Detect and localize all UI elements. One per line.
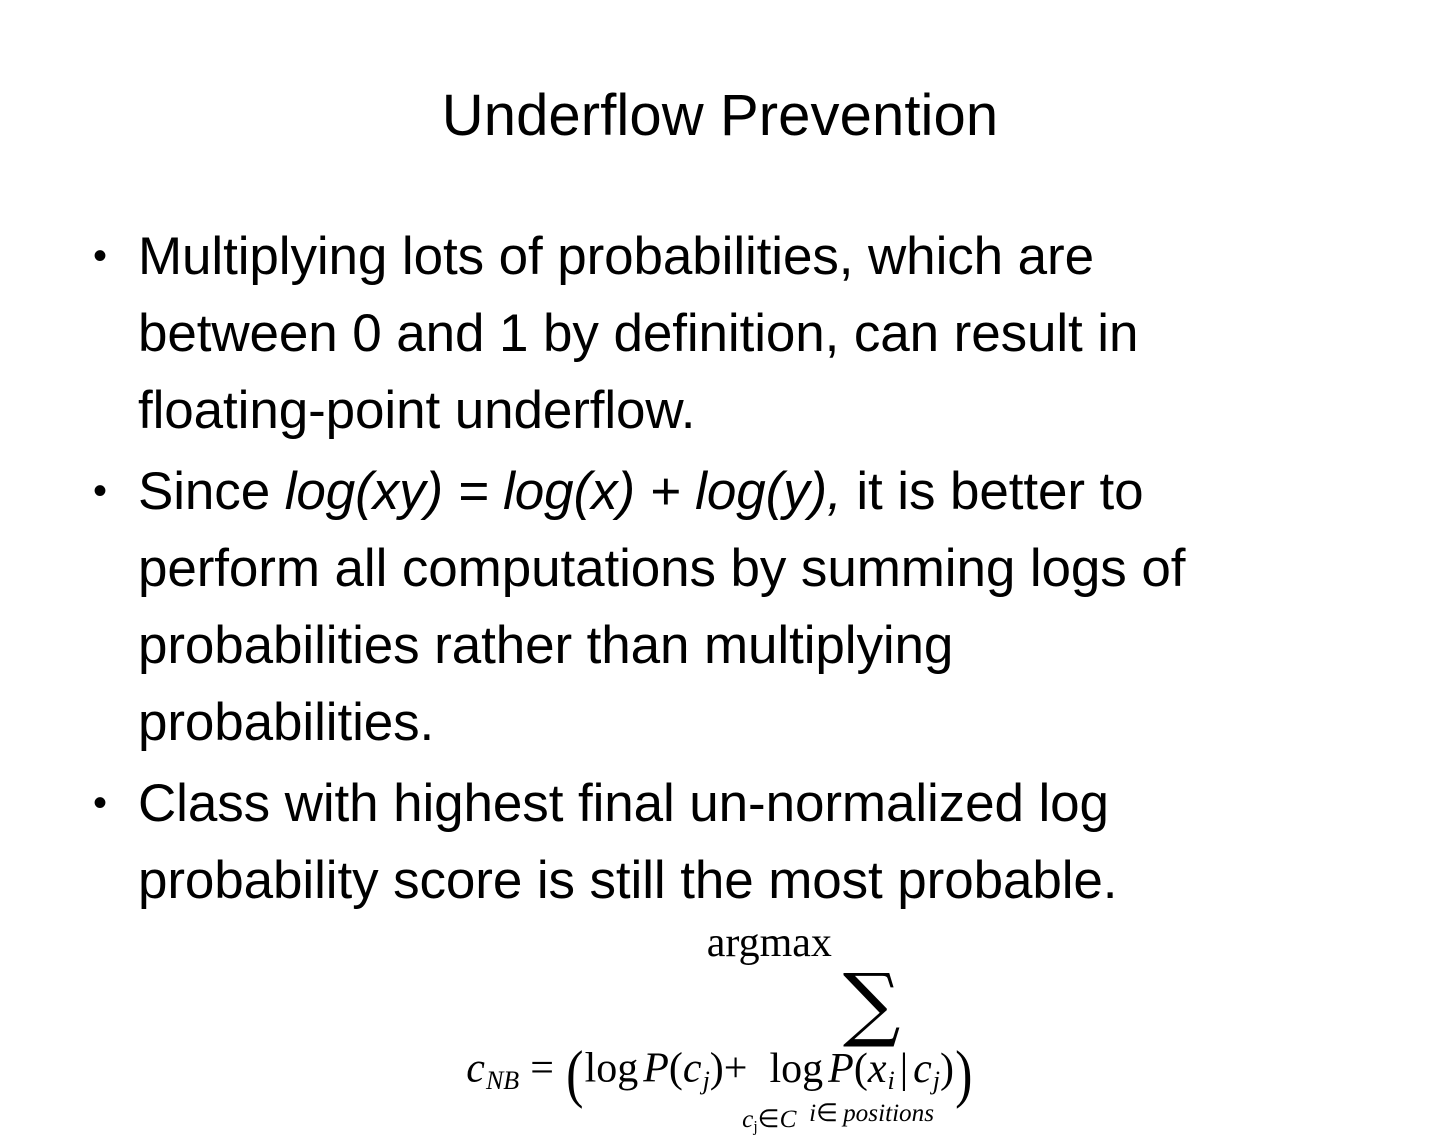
bullet-line: probabilities rather than multiplying xyxy=(138,607,1386,684)
formula-equals: = xyxy=(530,1046,554,1092)
formula-prob-2-close: ) xyxy=(940,1046,954,1092)
formula-argmax-under-var: c xyxy=(742,1106,753,1133)
bullet-list: • Multiplying lots of probabilities, whi… xyxy=(86,218,1386,923)
formula-prob-2-given: | xyxy=(900,1046,908,1092)
formula-close-paren: ) xyxy=(955,1050,972,1098)
slide-canvas: Underflow Prevention • Multiplying lots … xyxy=(0,0,1440,1080)
formula-prob-1-var: c xyxy=(683,1046,702,1092)
formula-prob-2-sub: i xyxy=(886,1066,894,1095)
formula-expression: cNB=argmaxcj∈C(logP(cj)+∑i∈positionslogP… xyxy=(466,922,973,1105)
bullet-line: perform all computations by summing logs… xyxy=(138,530,1386,607)
bullet-dot-icon: • xyxy=(93,765,123,842)
formula-prob-1-open: ( xyxy=(669,1046,683,1092)
bullet-line: floating-point underflow. xyxy=(138,372,1386,449)
formula-sum-under-index: i xyxy=(809,1100,816,1127)
bullet-text: Multiplying lots of probabilities, which… xyxy=(138,218,1386,449)
formula-summation: ∑i∈positionslogP(xi|cj)) xyxy=(769,964,973,1105)
bullet-item-highest-score: • Class with highest final un-normalized… xyxy=(86,765,1386,919)
formula-prob-2-cond-var: c xyxy=(913,1046,932,1092)
bullet-line: between 0 and 1 by definition, can resul… xyxy=(138,295,1386,372)
formula-prob-1: P xyxy=(643,1046,669,1092)
formula-block: cNB=argmaxcj∈C(logP(cj)+∑i∈positionslogP… xyxy=(0,922,1440,1105)
bullet-line-segment-italic: log(xy) = log(x) + log(y), xyxy=(285,462,842,521)
formula-sum-underscript: i∈positions xyxy=(809,1101,934,1126)
bullet-text: Class with highest final un-normalized l… xyxy=(138,765,1386,919)
formula-prob-2-open: ( xyxy=(854,1046,868,1092)
bullet-line: Class with highest final un-normalized l… xyxy=(138,765,1386,842)
bullet-dot-icon: • xyxy=(93,453,123,530)
formula-argmax-under-member: ∈ xyxy=(758,1106,780,1133)
bullet-line-segment: it is better to xyxy=(842,462,1144,521)
formula-sum-under-set: positions xyxy=(843,1100,934,1127)
formula-log-1: log xyxy=(585,1046,639,1092)
bullet-item-log-identity: • Since log(xy) = log(x) + log(y), it is… xyxy=(86,453,1386,761)
formula-argmax-operator: argmax xyxy=(565,922,974,964)
formula-prob-2: P xyxy=(828,1046,854,1092)
formula-prob-2-cond-sub: j xyxy=(932,1066,940,1095)
formula-prob-1-sub: j xyxy=(702,1066,710,1095)
formula-prob-1-close: ) xyxy=(710,1046,724,1092)
formula-argmax-under-set: C xyxy=(780,1106,797,1133)
formula-open-paren: ( xyxy=(566,1050,583,1098)
formula-sum-under-member: ∈ xyxy=(816,1100,838,1127)
bullet-dot-icon: • xyxy=(93,218,123,295)
bullet-line: probability score is still the most prob… xyxy=(138,842,1386,919)
bullet-text: Since log(xy) = log(x) + log(y), it is b… xyxy=(138,453,1386,761)
sum-symbol-icon: ∑ xyxy=(769,964,973,1045)
formula-lhs-variable: c xyxy=(466,1046,485,1092)
formula-prob-2-var: x xyxy=(868,1046,887,1092)
bullet-line: probabilities. xyxy=(138,684,1386,761)
formula-plus: + xyxy=(724,1046,748,1092)
page-title: Underflow Prevention xyxy=(0,84,1440,148)
bullet-line: Since log(xy) = log(x) + log(y), it is b… xyxy=(138,453,1386,530)
formula-log-2: log xyxy=(769,1046,823,1092)
formula-argmax-underscript: cj∈C xyxy=(742,1107,796,1135)
bullet-line: Multiplying lots of probabilities, which… xyxy=(138,218,1386,295)
formula-lhs-subscript: NB xyxy=(485,1066,519,1095)
bullet-item-underflow: • Multiplying lots of probabilities, whi… xyxy=(86,218,1386,449)
formula-argmax: argmaxcj∈C(logP(cj)+∑i∈positionslogP(xi|… xyxy=(565,922,974,1105)
bullet-line-segment: Since xyxy=(138,462,285,521)
